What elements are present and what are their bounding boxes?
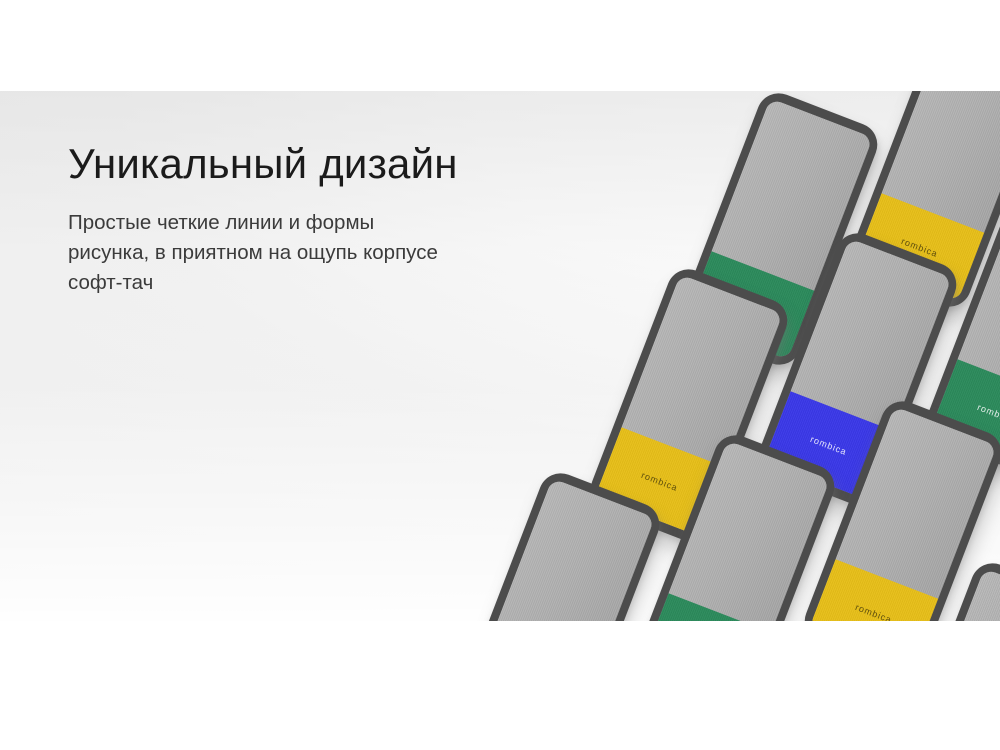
product-card-body-panel <box>493 478 655 621</box>
brand-logo: rombica <box>640 470 679 493</box>
brand-logo: rombica <box>854 602 893 621</box>
page-title: Уникальный дизайн <box>68 142 488 186</box>
promo-banner-page: rombicarombicarombicarombicarombicarombi… <box>0 0 1000 750</box>
product-card-face: rombica <box>467 478 655 621</box>
brand-logo: rombica <box>809 434 848 457</box>
page-subtitle: Простые четкие линии и формы рисунка, в … <box>68 186 448 297</box>
marketing-copy-block: Уникальный дизайн Простые четкие линии и… <box>68 142 488 297</box>
brand-logo: rombica <box>976 402 1000 425</box>
